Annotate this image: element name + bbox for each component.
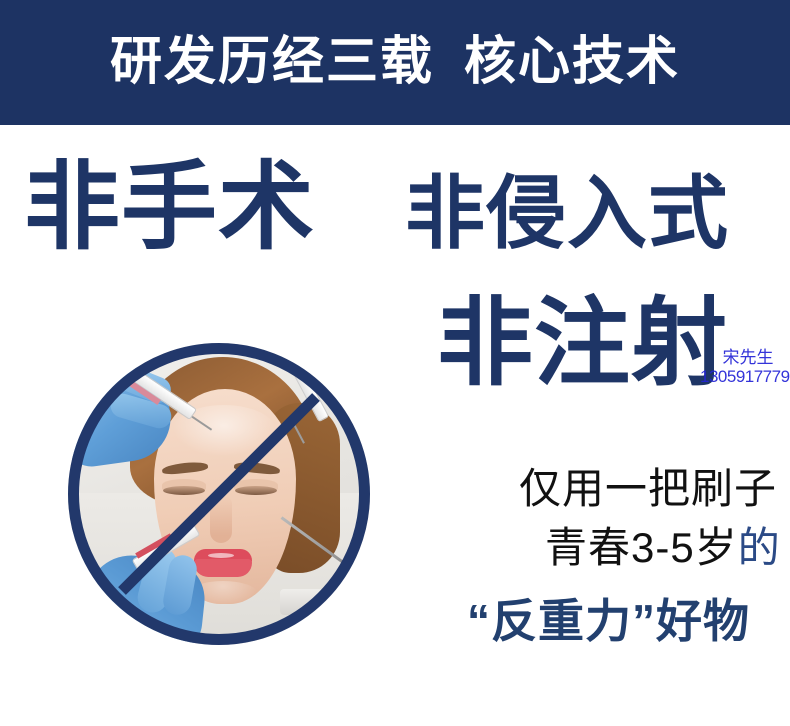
header-banner: 研发历经三载 核心技术: [0, 0, 790, 125]
subcopy-line-2-main: 青春3-5岁: [545, 524, 738, 571]
prohibition-sign-icon: [68, 343, 370, 645]
headline-non-injection: 非注射: [437, 296, 728, 392]
no-injection-badge: [68, 343, 370, 645]
headline-non-invasive: 非侵入式: [405, 174, 729, 254]
banner-title: 研发历经三载 核心技术: [0, 0, 790, 125]
promo-poster: 研发历经三载 核心技术 非手术 非侵入式 非注射: [0, 0, 790, 726]
headline-non-surgical: 非手术: [24, 160, 315, 256]
subcopy-line-2: 青春3-5岁的: [545, 527, 781, 569]
subcopy-line-1: 仅用一把刷子: [519, 468, 777, 510]
subcopy-line-3: “反重力”好物: [467, 598, 750, 644]
subcopy-line-2-accent: 的: [738, 524, 781, 571]
